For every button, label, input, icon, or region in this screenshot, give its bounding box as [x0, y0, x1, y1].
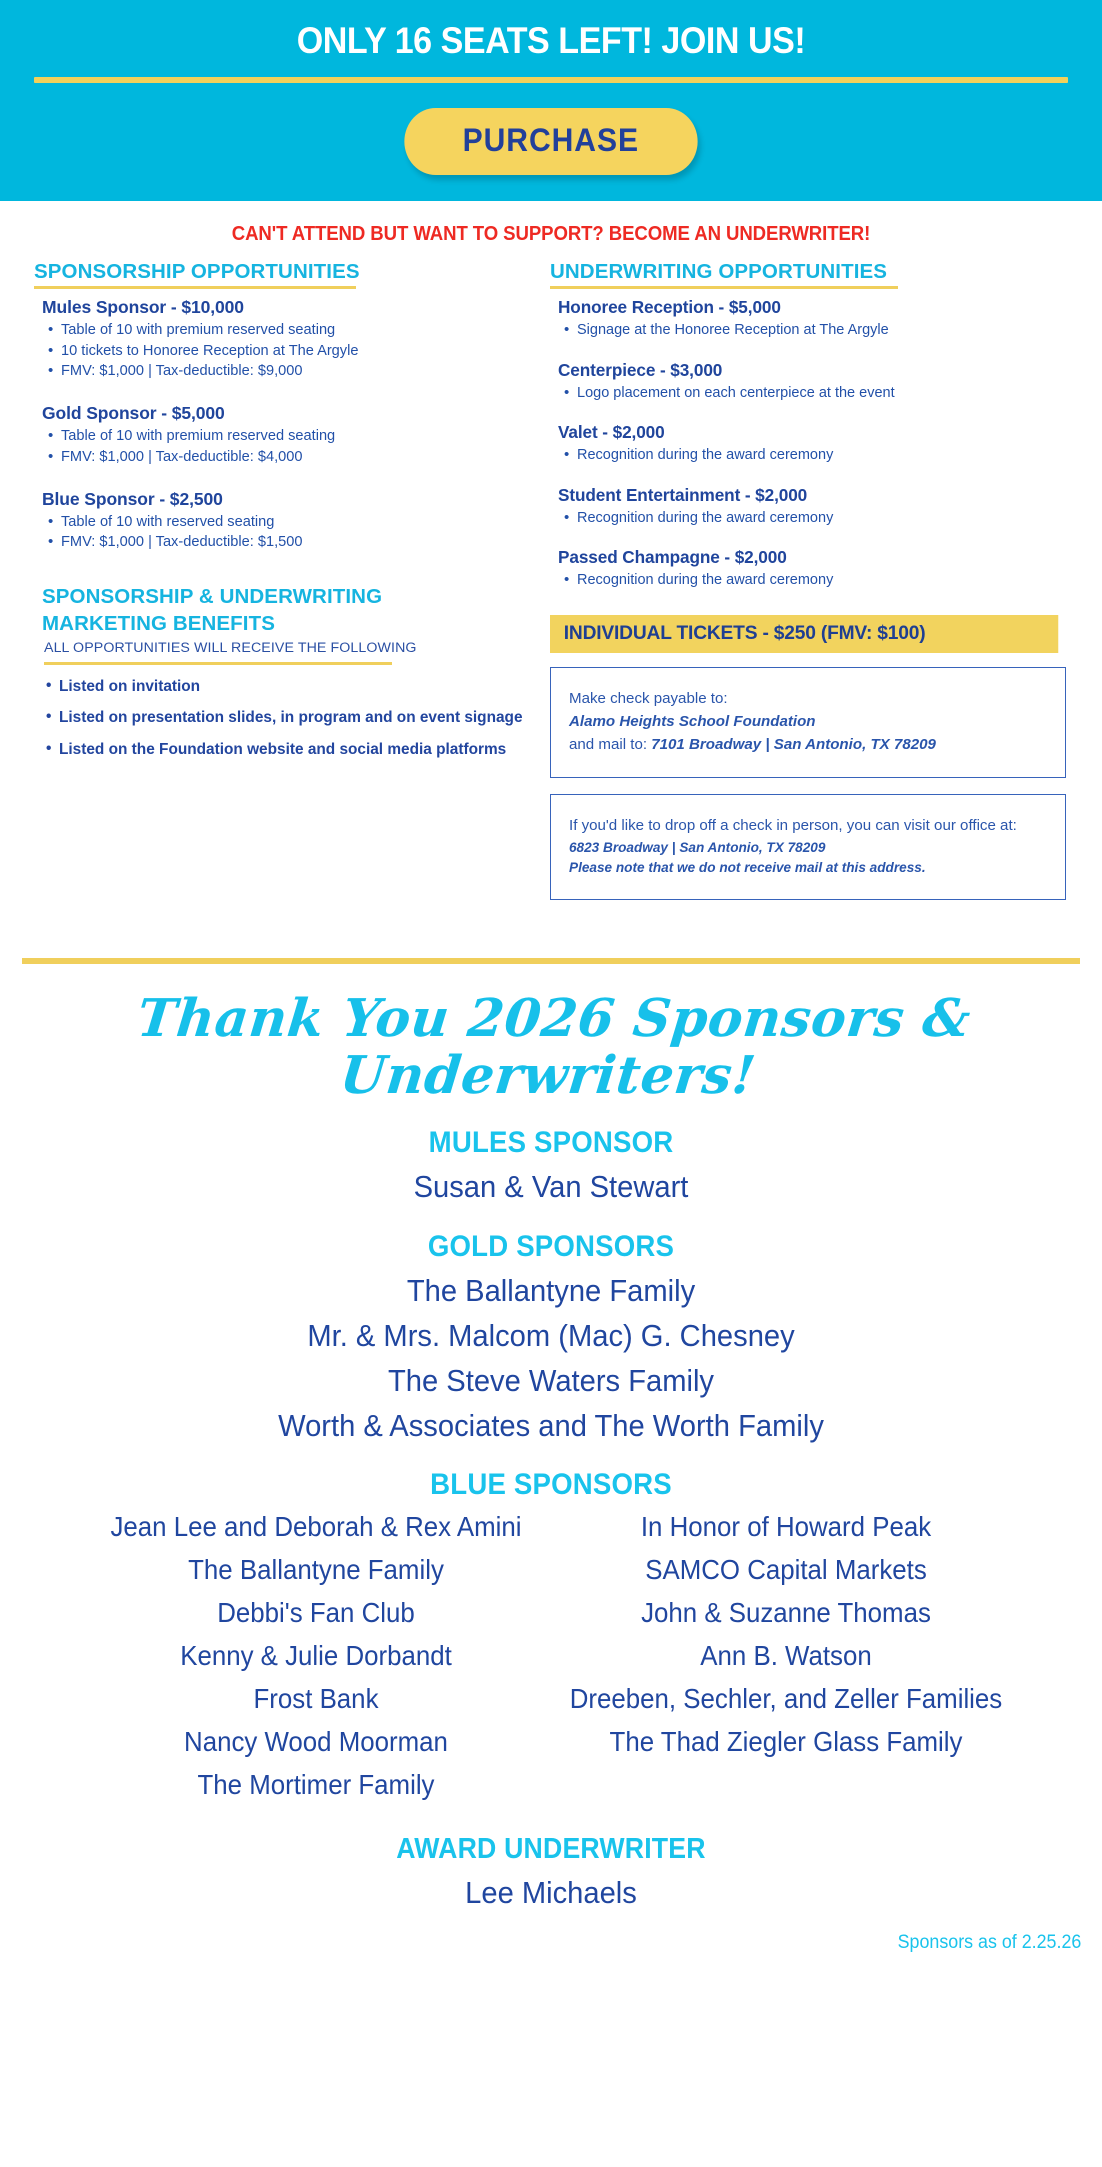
spacer	[550, 413, 1066, 422]
dropoff-line-1: If you'd like to drop off a check in per…	[569, 815, 1049, 838]
sponsor-name: Worth & Associates and The Worth Family	[33, 1405, 1069, 1446]
award-underwriter-names: Lee Michaels	[0, 1872, 1102, 1913]
benefits-heading-line2: MARKETING BENEFITS	[42, 612, 536, 635]
sponsorship-tier: Mules Sponsor - $10,000 Table of 10 with…	[34, 297, 536, 382]
gold-sponsor-names: The Ballantyne Family Mr. & Mrs. Malcom …	[0, 1270, 1102, 1447]
tier-bullet-list: Logo placement on each centerpiece at th…	[558, 383, 1066, 404]
sponsor-name: Nancy Wood Moorman	[95, 1725, 537, 1758]
sponsor-name: The Mortimer Family	[95, 1768, 537, 1801]
mail-address-line: and mail to: 7101 Broadway | San Antonio…	[569, 734, 1049, 757]
tier-bullet: Recognition during the award ceremony	[564, 570, 1066, 591]
underwriting-heading: UNDERWRITING OPPORTUNITIES	[550, 260, 1066, 284]
tier-bullet-list: Recognition during the award ceremony	[558, 570, 1066, 591]
sponsor-name: Debbi's Fan Club	[95, 1596, 537, 1629]
sponsor-name: The Ballantyne Family	[33, 1270, 1069, 1311]
mail-address-value: 7101 Broadway | San Antonio, TX 78209	[651, 736, 936, 753]
mail-address-prefix: and mail to:	[569, 736, 651, 753]
tier-title: Gold Sponsor - $5,000	[42, 403, 536, 424]
spacer	[34, 390, 536, 403]
blue-sponsors-columns: Jean Lee and Deborah & Rex Amini The Bal…	[0, 1510, 1102, 1811]
tier-title: Passed Champagne - $2,000	[558, 547, 1066, 568]
benefits-list: Listed on invitation Listed on presentat…	[42, 677, 536, 760]
blue-sponsors-left-column: Jean Lee and Deborah & Rex Amini The Bal…	[81, 1510, 551, 1811]
sponsorship-column: SPONSORSHIP OPPORTUNITIES Mules Sponsor …	[16, 260, 536, 771]
tier-title: Valet - $2,000	[558, 422, 1066, 443]
tier-bullet: FMV: $1,000 | Tax-deductible: $4,000	[48, 447, 536, 468]
benefit-item: Listed on invitation	[46, 677, 536, 697]
sponsorship-heading-rule	[34, 286, 356, 289]
sponsor-name: Kenny & Julie Dorbandt	[95, 1639, 537, 1672]
tier-bullet: 10 tickets to Honoree Reception at The A…	[48, 341, 536, 362]
hero-divider-rule	[34, 77, 1068, 83]
sponsor-name: SAMCO Capital Markets	[565, 1553, 1007, 1586]
benefits-subheading: ALL OPPORTUNITIES WILL RECEIVE THE FOLLO…	[44, 640, 536, 656]
tier-bullet: Logo placement on each centerpiece at th…	[564, 383, 1066, 404]
tier-title: Student Entertainment - $2,000	[558, 485, 1066, 506]
dropoff-address: 6823 Broadway | San Antonio, TX 78209	[569, 838, 1049, 859]
underwriter-callout-headline: CAN'T ATTEND BUT WANT TO SUPPORT? BECOME…	[39, 223, 1064, 246]
hero-title: ONLY 16 SEATS LEFT! JOIN US!	[44, 22, 1058, 61]
sponsor-name: The Steve Waters Family	[33, 1360, 1069, 1401]
tier-bullet: Table of 10 with premium reserved seatin…	[48, 320, 536, 341]
tier-title: Mules Sponsor - $10,000	[42, 297, 536, 318]
dropoff-note-a: Please note that we do	[569, 860, 719, 875]
blue-sponsors-heading: BLUE SPONSORS	[44, 1468, 1058, 1502]
tier-bullet: Recognition during the award ceremony	[564, 445, 1066, 466]
thank-you-script-title: Thank You 2026 Sponsors & Underwriters!	[0, 990, 1102, 1104]
spacer	[34, 476, 536, 489]
benefits-heading-line1: SPONSORSHIP & UNDERWRITING	[42, 585, 536, 608]
underwriting-tier: Student Entertainment - $2,000 Recogniti…	[550, 485, 1066, 529]
benefit-item: Listed on presentation slides, in progra…	[46, 708, 536, 728]
tier-title: Blue Sponsor - $2,500	[42, 489, 536, 510]
tier-bullet: Table of 10 with premium reserved seatin…	[48, 426, 536, 447]
mail-check-box: Make check payable to: Alamo Heights Sch…	[550, 667, 1066, 778]
sponsor-name: Frost Bank	[95, 1682, 537, 1715]
tier-bullet-list: Signage at the Honoree Reception at The …	[558, 320, 1066, 341]
tier-bullet: Recognition during the award ceremony	[564, 508, 1066, 529]
benefits-heading-rule	[44, 662, 392, 665]
sponsor-name: John & Suzanne Thomas	[565, 1596, 1007, 1629]
thank-you-section: Thank You 2026 Sponsors & Underwriters! …	[0, 964, 1102, 1970]
mules-sponsor-heading: MULES SPONSOR	[44, 1126, 1058, 1160]
mules-sponsor-names: Susan & Van Stewart	[0, 1166, 1102, 1207]
spacer	[550, 538, 1066, 547]
tier-bullet: FMV: $1,000 | Tax-deductible: $1,500	[48, 532, 536, 553]
purchase-button-container: PURCHASE	[0, 108, 1102, 179]
sponsor-name: Dreeben, Sechler, and Zeller Families	[565, 1682, 1007, 1715]
dropoff-note-not: not	[719, 860, 740, 875]
sponsor-name: In Honor of Howard Peak	[565, 1510, 1007, 1543]
spacer	[550, 476, 1066, 485]
benefit-item: Listed on the Foundation website and soc…	[46, 740, 536, 760]
mail-payee-name: Alamo Heights School Foundation	[569, 711, 1049, 734]
marketing-benefits-block: SPONSORSHIP & UNDERWRITING MARKETING BEN…	[34, 585, 536, 760]
tier-bullet-list: Table of 10 with premium reserved seatin…	[42, 320, 536, 382]
sponsorship-tier: Blue Sponsor - $2,500 Table of 10 with r…	[34, 489, 536, 553]
sponsor-name: Lee Michaels	[33, 1872, 1069, 1913]
sponsor-name: Jean Lee and Deborah & Rex Amini	[95, 1510, 537, 1543]
tier-bullet: Table of 10 with reserved seating	[48, 512, 536, 533]
underwriting-tier: Valet - $2,000 Recognition during the aw…	[550, 422, 1066, 466]
underwriting-column: UNDERWRITING OPPORTUNITIES Honoree Recep…	[536, 260, 1066, 916]
dropoff-check-box: If you'd like to drop off a check in per…	[550, 794, 1066, 900]
mail-line-1: Make check payable to:	[569, 688, 1049, 711]
sponsor-name: Susan & Van Stewart	[33, 1166, 1069, 1207]
sponsor-name: The Thad Ziegler Glass Family	[565, 1725, 1007, 1758]
blue-sponsors-right-column: In Honor of Howard Peak SAMCO Capital Ma…	[551, 1510, 1021, 1811]
tier-bullet: Signage at the Honoree Reception at The …	[564, 320, 1066, 341]
tier-bullet-list: Recognition during the award ceremony	[558, 508, 1066, 529]
opportunities-columns: SPONSORSHIP OPPORTUNITIES Mules Sponsor …	[0, 260, 1102, 916]
underwriting-heading-rule	[550, 286, 898, 289]
dropoff-note: Please note that we do not receive mail …	[569, 858, 1049, 879]
hero-banner: ONLY 16 SEATS LEFT! JOIN US! PURCHASE	[0, 0, 1102, 201]
tier-title: Centerpiece - $3,000	[558, 360, 1066, 381]
tier-bullet-list: Table of 10 with reserved seating FMV: $…	[42, 512, 536, 553]
award-underwriter-heading: AWARD UNDERWRITER	[44, 1833, 1058, 1866]
purchase-button[interactable]: PURCHASE	[405, 108, 698, 175]
tier-bullet: FMV: $1,000 | Tax-deductible: $9,000	[48, 361, 536, 382]
sponsorship-heading: SPONSORSHIP OPPORTUNITIES	[34, 260, 536, 284]
sponsor-name: Ann B. Watson	[565, 1639, 1007, 1672]
sponsors-as-of-note: Sponsors as of 2.25.26	[66, 1918, 1102, 1970]
tier-title: Honoree Reception - $5,000	[558, 297, 1066, 318]
gold-sponsors-heading: GOLD SPONSORS	[44, 1230, 1058, 1264]
sponsorship-page: ONLY 16 SEATS LEFT! JOIN US! PURCHASE CA…	[0, 0, 1102, 2167]
sponsorship-tier: Gold Sponsor - $5,000 Table of 10 with p…	[34, 403, 536, 467]
tier-bullet-list: Table of 10 with premium reserved seatin…	[42, 426, 536, 467]
underwriting-tier: Honoree Reception - $5,000 Signage at th…	[550, 297, 1066, 341]
spacer	[550, 351, 1066, 360]
individual-tickets-bar: INDIVIDUAL TICKETS - $250 (FMV: $100)	[550, 615, 1058, 653]
sponsor-name: Mr. & Mrs. Malcom (Mac) G. Chesney	[33, 1315, 1069, 1356]
underwriting-tier: Passed Champagne - $2,000 Recognition du…	[550, 547, 1066, 591]
underwriting-tier: Centerpiece - $3,000 Logo placement on e…	[550, 360, 1066, 404]
tier-bullet-list: Recognition during the award ceremony	[558, 445, 1066, 466]
sponsor-name: The Ballantyne Family	[95, 1553, 537, 1586]
dropoff-note-c: receive mail at this address.	[740, 860, 925, 875]
